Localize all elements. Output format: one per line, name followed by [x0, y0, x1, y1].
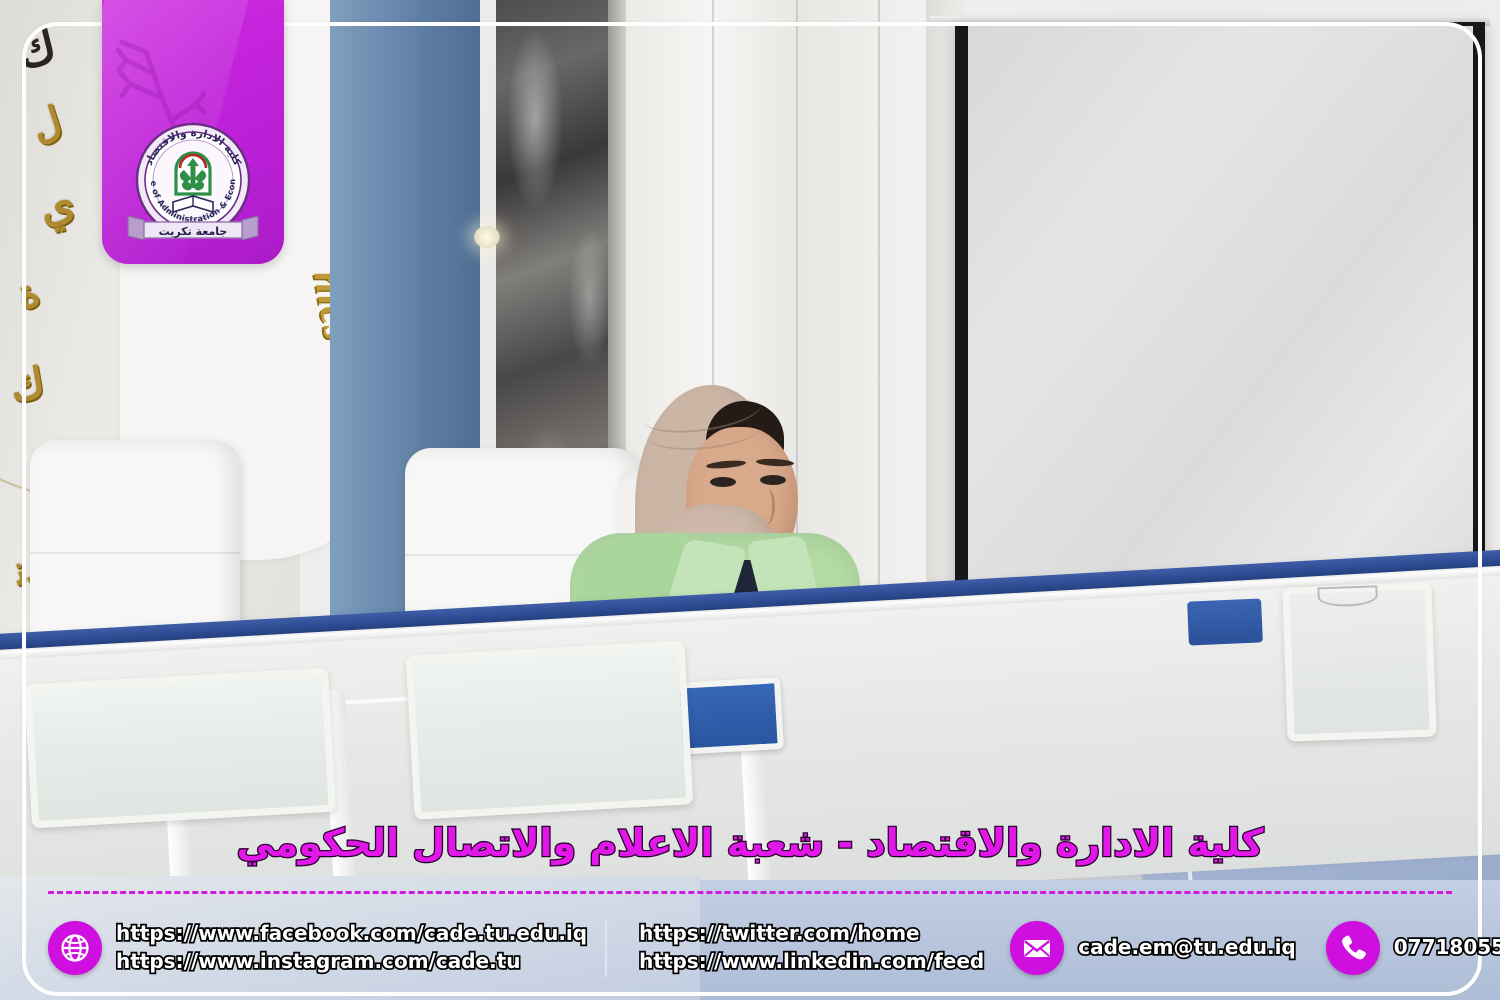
ceiling-spotlight: [474, 226, 500, 248]
calligraphy-glyph: ك: [6, 357, 49, 411]
globe-icon[interactable]: [48, 921, 102, 975]
page-title: كلية الادارة والاقتصاد - شعبة الاعلام وا…: [236, 821, 1263, 865]
projection-screen: [968, 26, 1473, 642]
calligraphy-glyph: ي: [35, 177, 79, 234]
facebook-url[interactable]: https://www.facebook.com/cade.tu.edu.iq: [116, 920, 587, 948]
calligraphy-glyph: ك: [12, 18, 62, 80]
email-address[interactable]: cade.em@tu.edu.iq: [1078, 934, 1296, 962]
calligraphy-glyph: ة: [12, 268, 45, 319]
poster-title-bar: كلية الادارة والاقتصاد - شعبة الاعلام وا…: [0, 806, 1500, 880]
linkedin-url[interactable]: https://www.linkedin.com/feed: [639, 948, 984, 976]
footer-divider: [605, 919, 607, 977]
desk-glass-panel: [1282, 582, 1436, 741]
phone-number[interactable]: 07718055128: [1394, 934, 1500, 962]
instagram-url[interactable]: https://www.instagram.com/cade.tu: [116, 948, 587, 976]
envelope-icon[interactable]: [1010, 921, 1064, 975]
svg-text:جامعة تكريت: جامعة تكريت: [159, 225, 228, 238]
contact-footer: https://www.facebook.com/cade.tu.edu.iq …: [48, 906, 1458, 990]
eye: [710, 477, 736, 487]
phone-icon[interactable]: [1326, 921, 1380, 975]
social-group-2[interactable]: https://twitter.com/home https://www.lin…: [625, 920, 984, 975]
desk-glass-panel: [24, 668, 336, 829]
divider-dashed: [48, 891, 1452, 894]
desk-glass-panel: [406, 640, 694, 819]
social-group[interactable]: https://www.facebook.com/cade.tu.edu.iq …: [48, 920, 587, 975]
desk-name-card: [1187, 598, 1263, 645]
twitter-url[interactable]: https://twitter.com/home: [639, 920, 984, 948]
college-logo-badge: كلية الادارة والاقتصاد College of Admini…: [102, 0, 284, 264]
email-group[interactable]: cade.em@tu.edu.iq: [1010, 921, 1296, 975]
phone-group[interactable]: 07718055128: [1326, 921, 1500, 975]
calligraphy-glyph: ل: [25, 97, 67, 151]
eye: [760, 475, 786, 485]
poster-canvas: ك ل ي ة ك ب ـﻧ nics: [0, 0, 1500, 1000]
college-seal-icon: كلية الادارة والاقتصاد College of Admini…: [118, 110, 268, 260]
